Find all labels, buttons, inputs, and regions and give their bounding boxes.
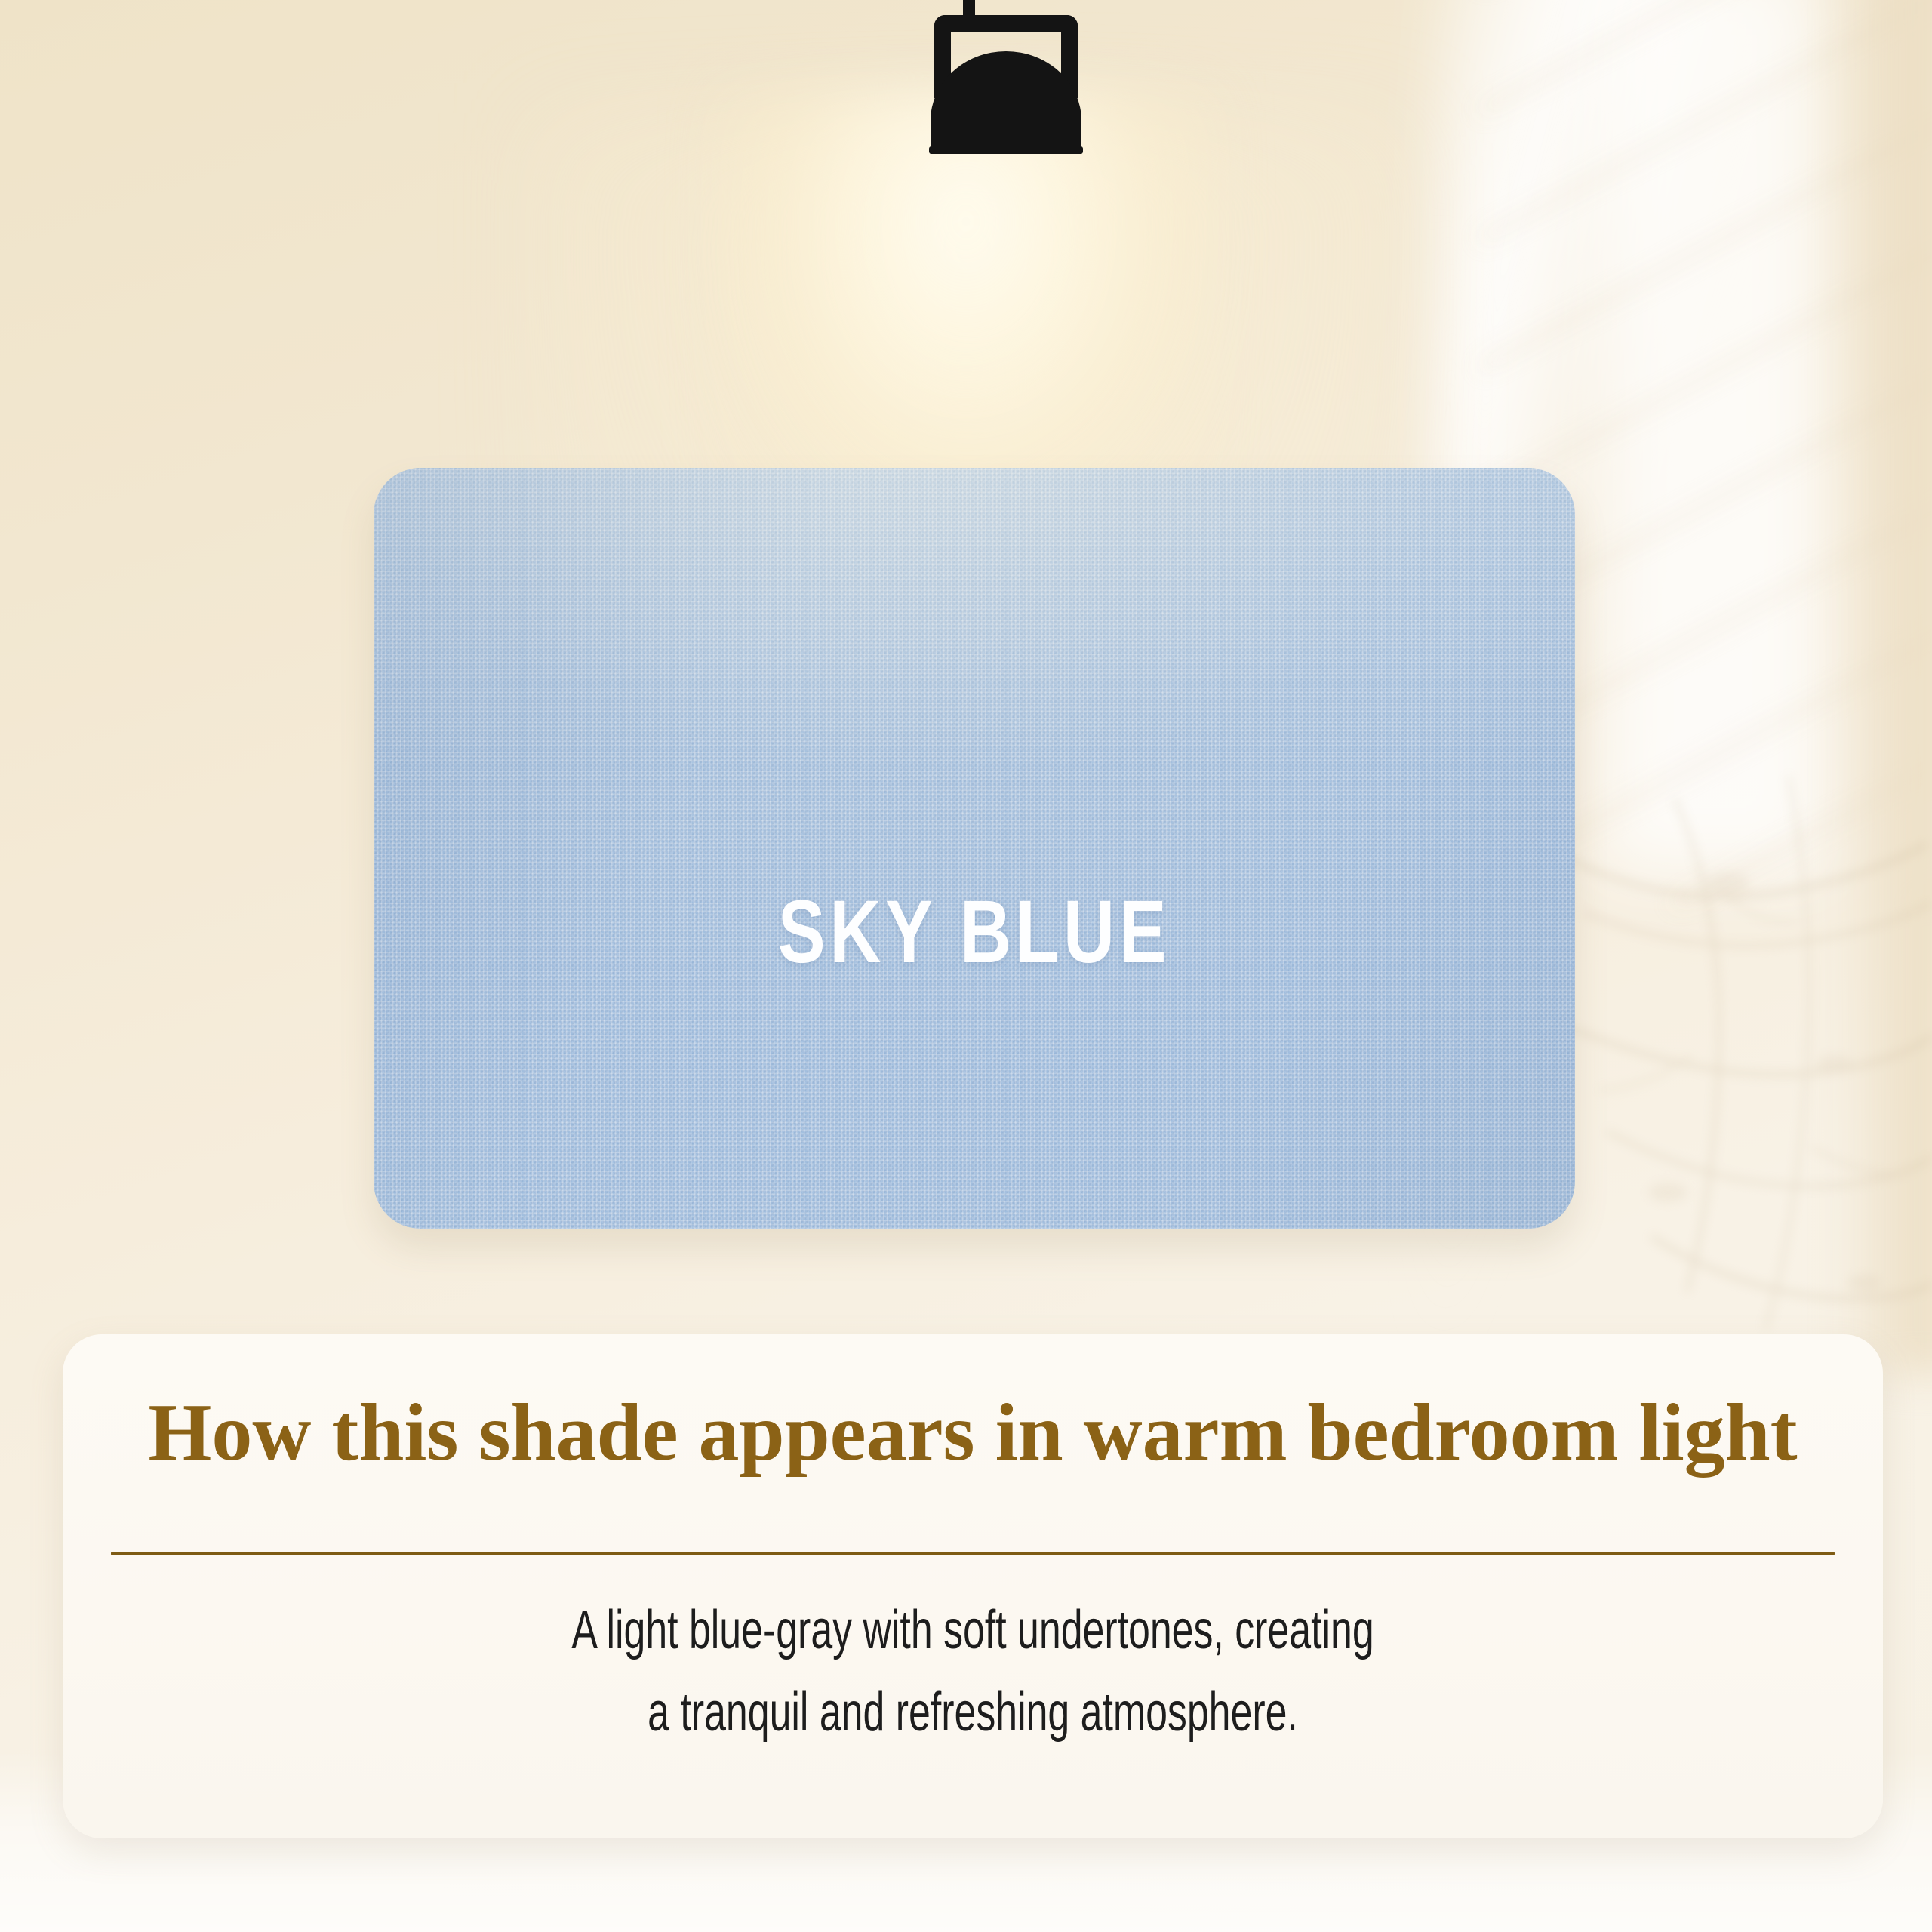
swatch-label: SKY BLUE — [494, 888, 1455, 977]
tree-branch-shadow-icon — [1540, 664, 1932, 1419]
card-divider — [111, 1552, 1835, 1555]
window-pane-glow — [1600, 0, 1826, 875]
info-card: How this shade appears in warm bedroom l… — [63, 1334, 1883, 1838]
room-scene: SKY BLUE How this shade appears in warm … — [0, 0, 1932, 1932]
card-title: How this shade appears in warm bedroom l… — [63, 1390, 1883, 1475]
window-frame-edge — [1834, 0, 1932, 1374]
fabric-weave-texture-diagonal — [374, 468, 1575, 1229]
lamp-cord — [963, 0, 975, 17]
lamp-bracket — [934, 15, 1078, 98]
color-swatch[interactable]: SKY BLUE — [374, 468, 1575, 1229]
card-description: A light blue-gray with soft undertones, … — [405, 1589, 1541, 1755]
lamp-shade — [931, 51, 1081, 149]
